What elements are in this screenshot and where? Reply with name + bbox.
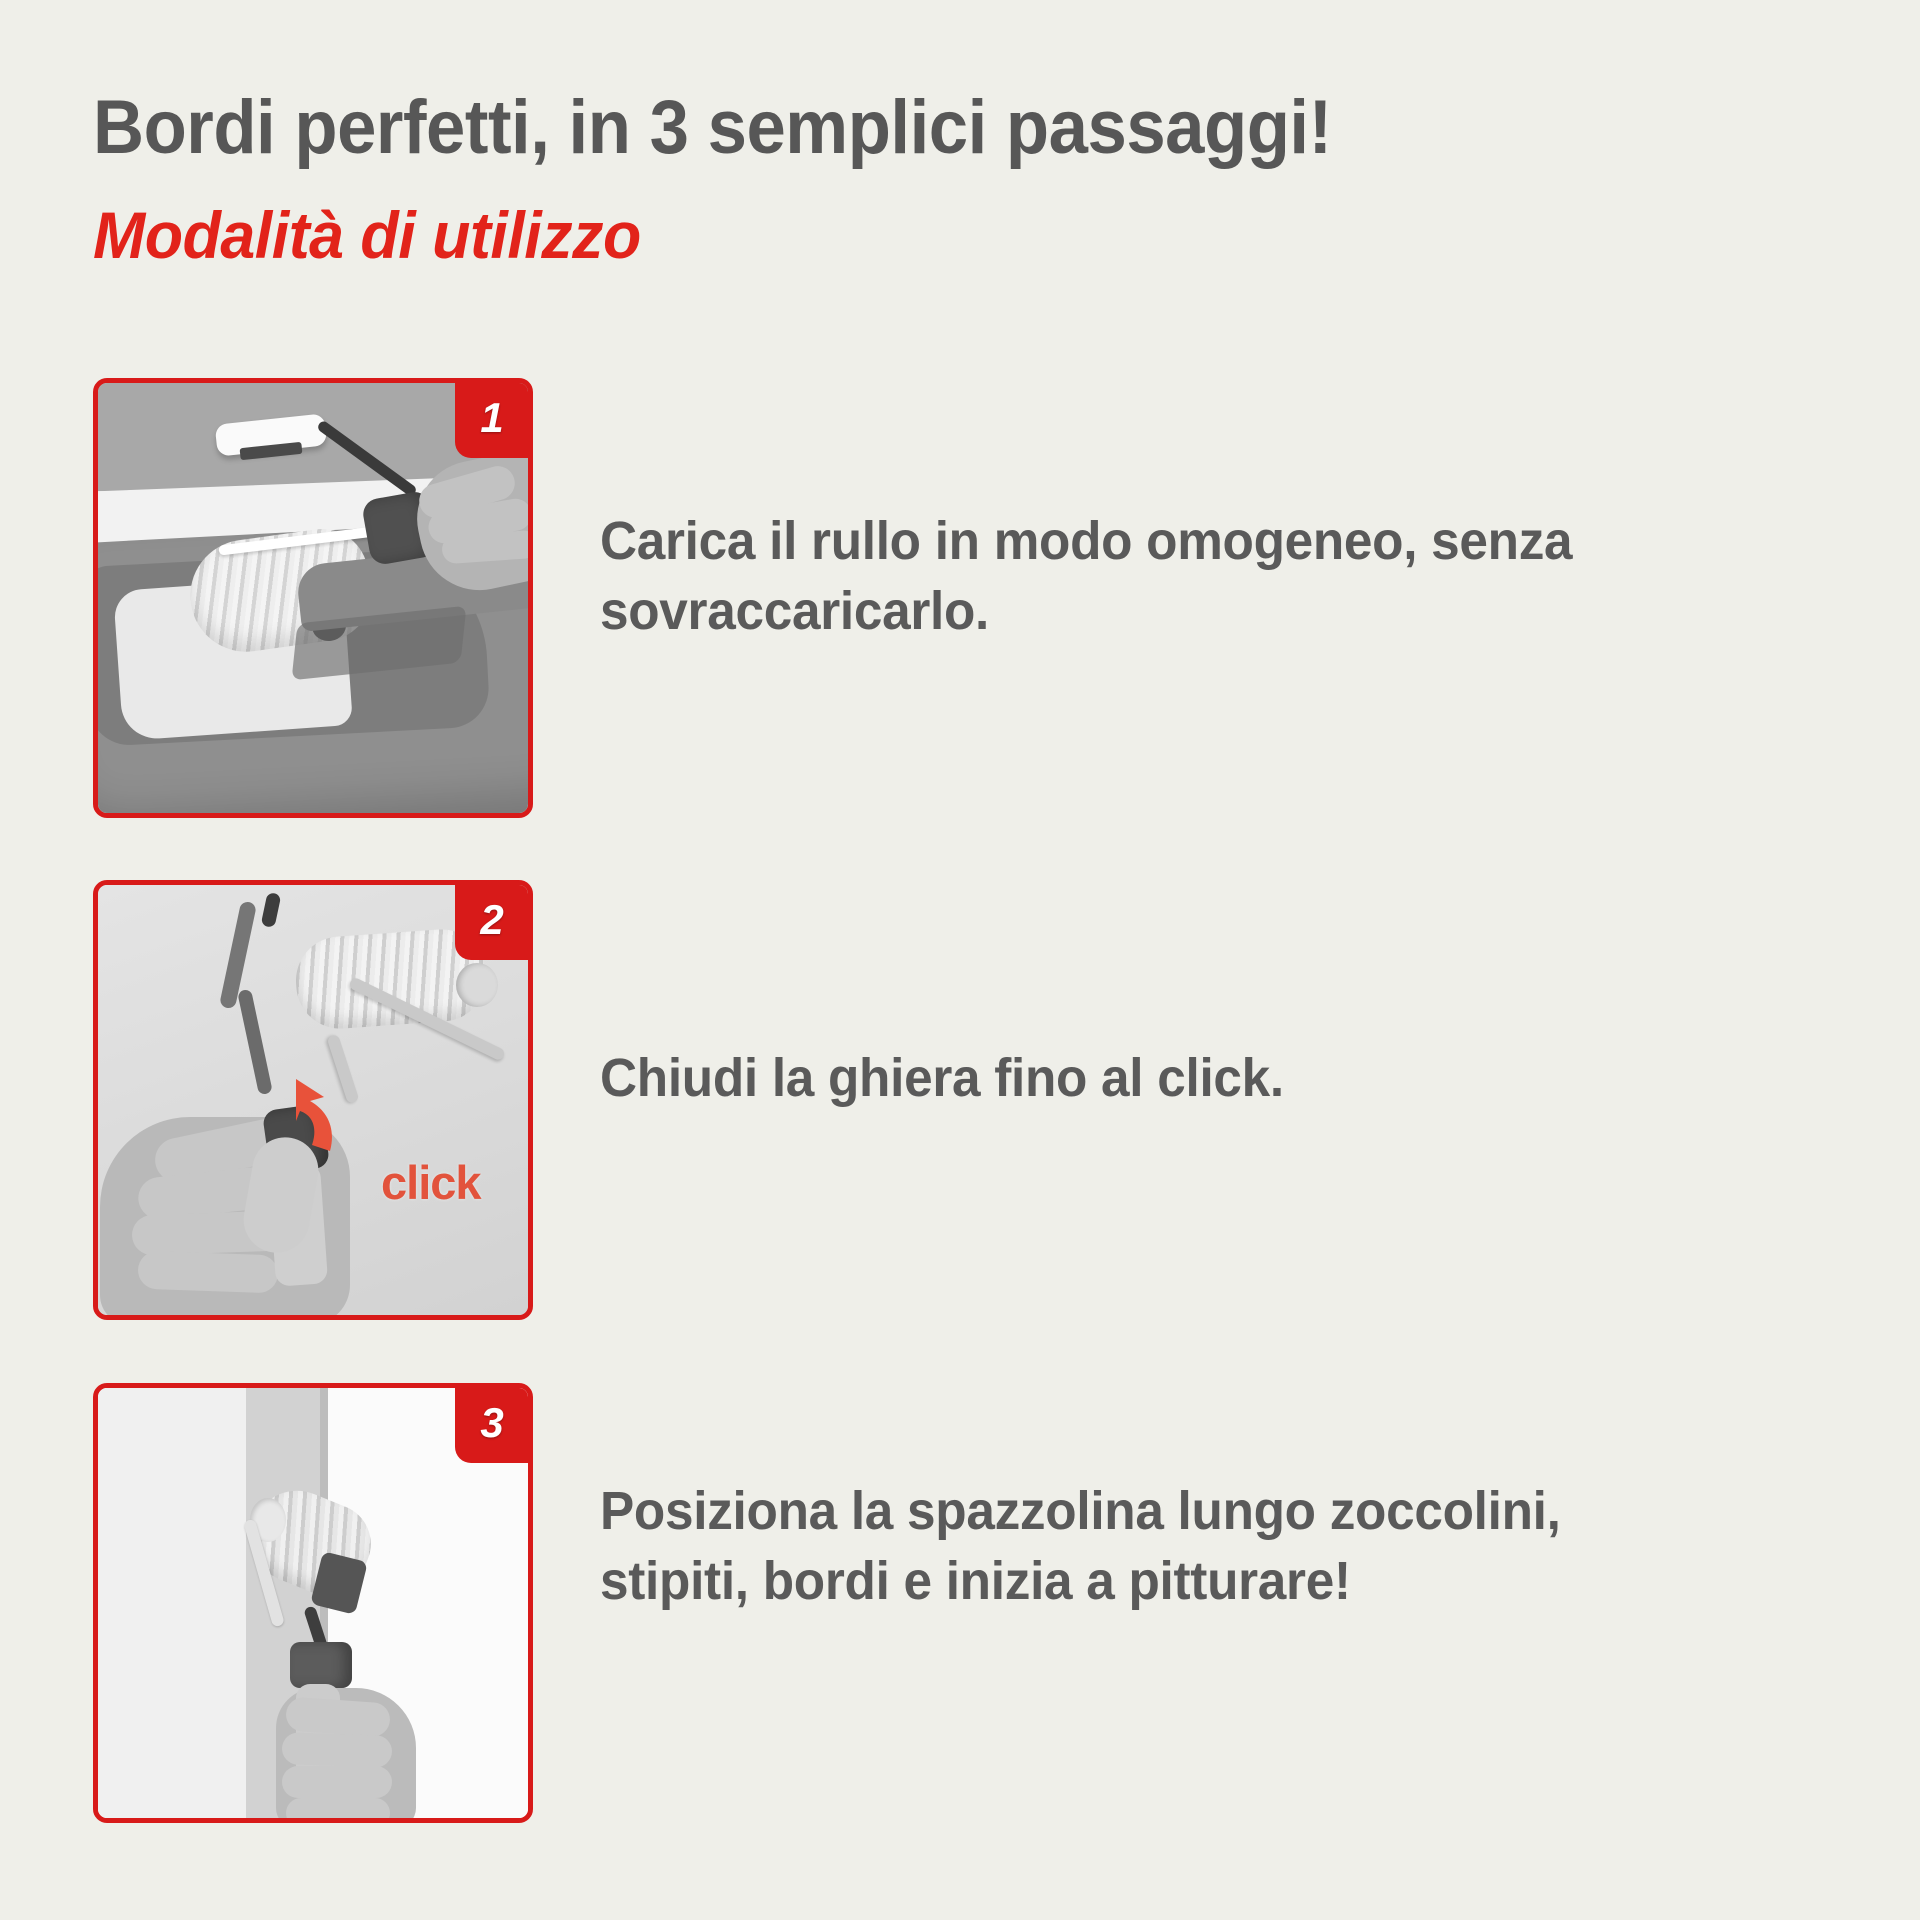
- step-1-image: 1: [93, 378, 533, 818]
- step-3-caption: Posiziona la spazzolina lungo zoccolini,…: [600, 1476, 1721, 1616]
- rotate-arrow-icon: [266, 1071, 362, 1157]
- step-3-number: 3: [480, 1402, 503, 1444]
- finger: [137, 1251, 278, 1294]
- roller-ferrule: [290, 1642, 352, 1688]
- page-subtitle: Modalità di utilizzo: [93, 196, 641, 274]
- step-3-number-badge: 3: [455, 1387, 529, 1463]
- finger: [281, 1732, 392, 1768]
- step-1-number: 1: [480, 397, 503, 439]
- click-annotation: click: [381, 1155, 481, 1210]
- instruction-page: Bordi perfetti, in 3 semplici passaggi! …: [0, 0, 1920, 1920]
- roller-end-cap: [456, 963, 498, 1007]
- finger: [285, 1696, 391, 1737]
- step-2-number-badge: 2: [455, 884, 529, 960]
- step-1-number-badge: 1: [455, 382, 529, 458]
- finger: [282, 1766, 392, 1798]
- step-2-number: 2: [480, 899, 503, 941]
- wall-left: [98, 1388, 246, 1818]
- step-2-caption: Chiudi la ghiera fino al click.: [600, 1043, 1721, 1113]
- step-2-image: click 2: [93, 880, 533, 1320]
- step-3-image: 3: [93, 1383, 533, 1823]
- step-1-caption: Carica il rullo in modo omogeneo, senza …: [600, 506, 1721, 646]
- page-title: Bordi perfetti, in 3 semplici passaggi!: [93, 84, 1332, 172]
- finger: [286, 1798, 390, 1818]
- finger: [441, 530, 528, 565]
